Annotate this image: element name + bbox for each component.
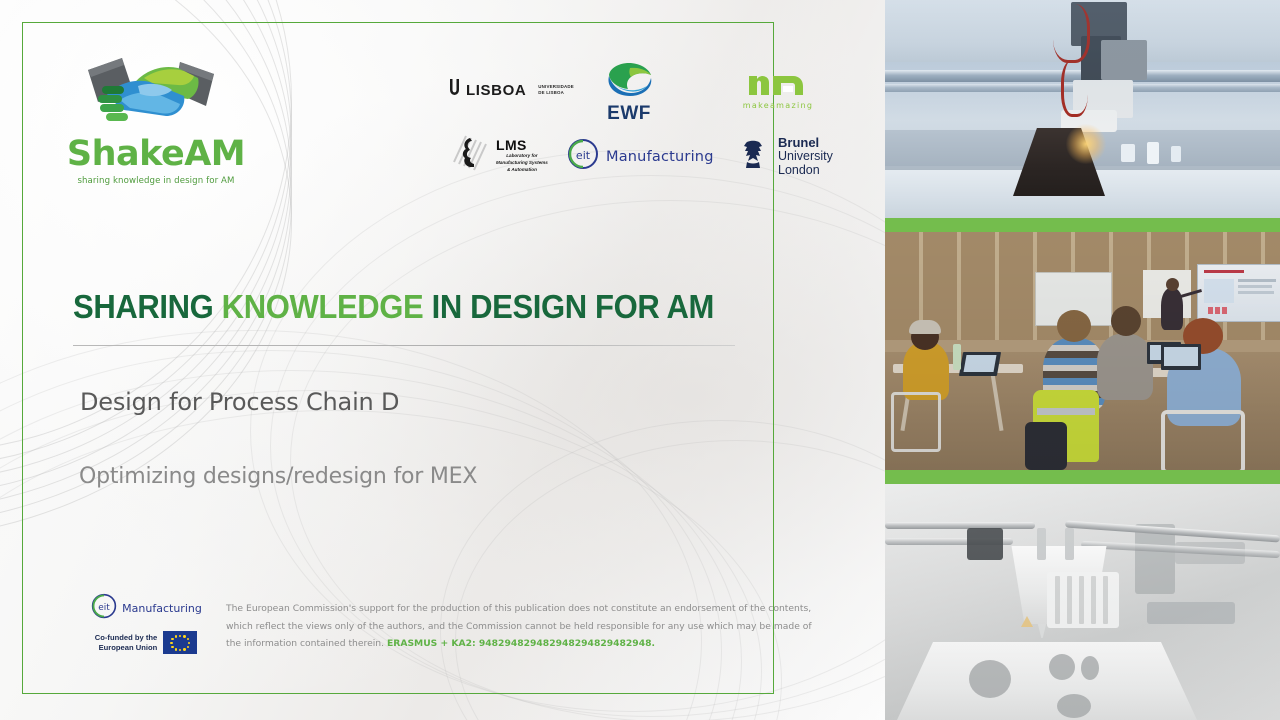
eit-footer-wordmark: Manufacturing xyxy=(122,602,202,615)
disclaimer-text: The European Commission's support for th… xyxy=(226,600,822,653)
makeamazing-wordmark: makeamazing xyxy=(738,101,818,110)
photo-training-workshop xyxy=(885,232,1280,470)
partner-logo-brunel: Brunel University London xyxy=(738,136,828,178)
ewf-wordmark: EWF xyxy=(598,103,660,125)
ulisboa-sub-line2: DE LISBOA xyxy=(538,90,574,96)
lms-sub-line2: Manufacturing Systems xyxy=(496,160,548,167)
brunel-line3: London xyxy=(778,164,833,178)
cofunded-line1: Co-funded by the xyxy=(95,633,157,643)
title-divider-rule xyxy=(73,345,735,346)
brunel-crest-icon xyxy=(738,137,768,176)
cofunded-line2: European Union xyxy=(95,643,157,653)
partner-logo-makeamazing: makeamazing xyxy=(738,70,818,112)
partner-logo-ewf: EWF xyxy=(598,62,660,114)
shakeam-wordmark: ShakeAM xyxy=(66,134,246,174)
eu-flag-icon xyxy=(163,631,197,654)
eit-circle-icon: eit xyxy=(90,593,118,624)
shakeam-logo: ShakeAM sharing knowledge in design for … xyxy=(66,56,246,196)
handshake-icon xyxy=(80,56,230,131)
ma-monogram-icon xyxy=(738,70,818,101)
slide-left-panel: ShakeAM sharing knowledge in design for … xyxy=(0,0,885,720)
brunel-line2: University xyxy=(778,150,833,164)
title-part-2: KNOWLEDGE xyxy=(222,288,424,325)
photo-3d-printer-extruder xyxy=(885,0,1280,218)
slide-subtitle-secondary: Optimizing designs/redesign for MEX xyxy=(79,464,477,489)
svg-text:eit: eit xyxy=(576,149,591,162)
title-part-3: IN DESIGN FOR AM xyxy=(423,288,714,325)
eit-wordmark: Manufacturing xyxy=(606,149,714,165)
shakeam-tagline: sharing knowledge in design for AM xyxy=(66,176,246,186)
lms-sub-line1: Laboratory for xyxy=(496,153,548,160)
lms-sub-line3: & Automation xyxy=(496,167,548,174)
slide-subtitle-main: Design for Process Chain D xyxy=(80,388,399,416)
lms-wordmark: LMS xyxy=(496,137,548,153)
title-part-1: SHARING xyxy=(73,288,222,325)
partner-logo-ulisboa: LISBOA UNIVERSIDADE DE LISBOA xyxy=(448,76,560,104)
slide-image-column xyxy=(885,0,1280,720)
footer-funding-logo: eit Manufacturing Co-funded by the Europ… xyxy=(78,593,214,654)
erasmus-grant-number: ERASMUS + KA2: 9482948294829482948294829… xyxy=(387,638,655,649)
partner-logo-lms: LMS Laboratory for Manufacturing Systems… xyxy=(452,132,562,176)
photo-desktop-3d-printer xyxy=(885,484,1280,720)
lms-profile-icon xyxy=(452,132,494,179)
ewf-globe-icon xyxy=(598,62,660,103)
slide-main-title: SHARING KNOWLEDGE IN DESIGN FOR AM xyxy=(73,288,714,326)
u-lisboa-icon xyxy=(448,78,461,103)
presentation-slide: ShakeAM sharing knowledge in design for … xyxy=(0,0,1280,720)
svg-text:eit: eit xyxy=(98,603,110,613)
brunel-name: Brunel xyxy=(778,136,833,150)
eit-circle-icon: eit xyxy=(566,138,600,175)
ulisboa-name: LISBOA xyxy=(466,82,526,99)
partner-logo-eit-manufacturing: eit Manufacturing xyxy=(566,138,696,172)
